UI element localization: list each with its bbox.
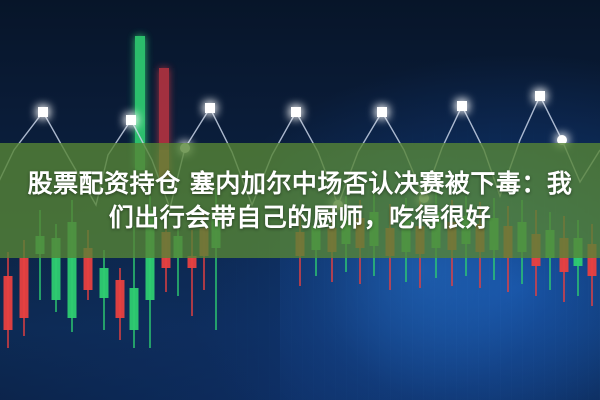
zigzag-square-marker <box>535 91 545 101</box>
zigzag-line-chart <box>0 0 600 400</box>
zigzag-square-marker <box>291 107 301 117</box>
zigzag-square-marker <box>38 107 48 117</box>
zigzag-circle-marker <box>180 143 190 153</box>
zigzag-square-marker <box>126 115 136 125</box>
zigzag-square-marker <box>457 101 467 111</box>
zigzag-square-marker <box>377 107 387 117</box>
zigzag-marker-group <box>38 91 567 210</box>
zigzag-square-marker <box>205 103 215 113</box>
zigzag-circle-marker <box>557 135 567 145</box>
stock-banner-image: 股票配资持仓 塞内加尔中场否认决赛被下毒：我 们出行会带自己的厨师，吃得很好 <box>0 0 600 400</box>
zigzag-circle-marker <box>333 200 343 210</box>
zigzag-circle-marker <box>419 193 429 203</box>
